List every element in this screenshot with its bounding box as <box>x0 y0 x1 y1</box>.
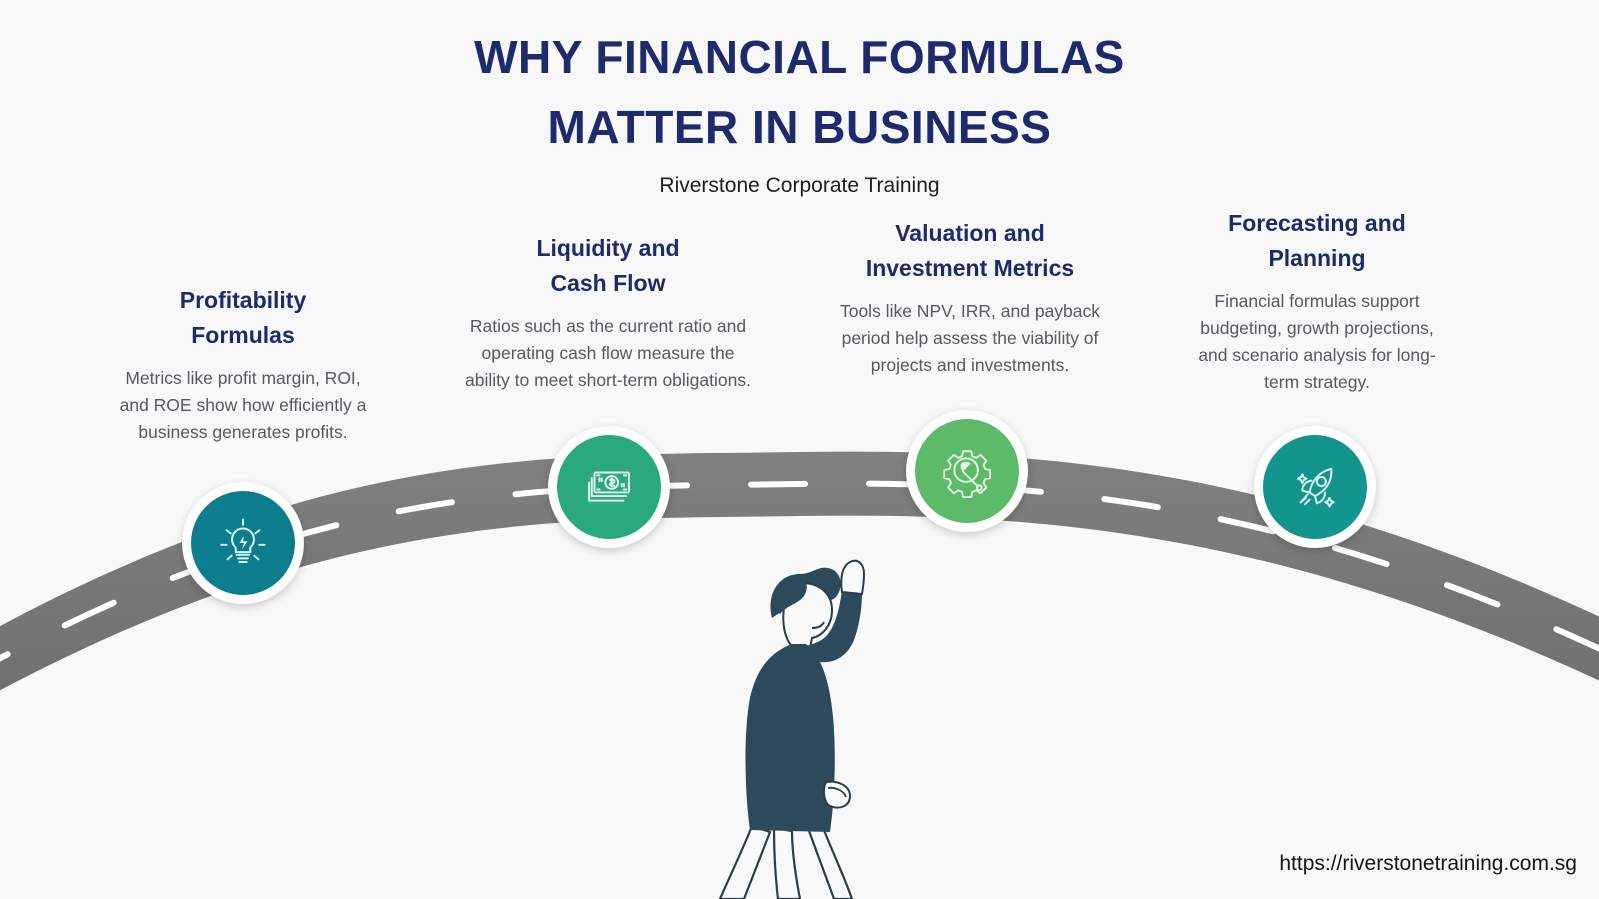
step-1-icon-badge[interactable] <box>182 482 304 604</box>
step-1-description: Metrics like profit margin, ROI, and ROE… <box>113 365 373 446</box>
step-2-title-line-2: Cash Flow <box>458 266 758 301</box>
infographic-canvas: WHY FINANCIAL FORMULAS MATTER IN BUSINES… <box>0 0 1599 899</box>
step-3-description: Tools like NPV, IRR, and payback period … <box>835 298 1105 379</box>
header: WHY FINANCIAL FORMULAS MATTER IN BUSINES… <box>0 22 1599 200</box>
step-3: Valuation and Investment Metrics Tools l… <box>835 216 1105 379</box>
step-4-icon-circle <box>1263 435 1367 539</box>
step-4: Forecasting and Planning Financial formu… <box>1192 206 1442 396</box>
step-1-title-line-2: Formulas <box>113 318 373 353</box>
step-2-title-line-1: Liquidity and <box>458 231 758 266</box>
step-2-icon-badge[interactable] <box>548 426 670 548</box>
banknotes-icon <box>580 458 638 516</box>
step-2: Liquidity and Cash Flow Ratios such as t… <box>458 231 758 394</box>
step-3-title-line-2: Investment Metrics <box>835 251 1105 286</box>
step-2-description: Ratios such as the current ratio and ope… <box>458 313 758 394</box>
step-1: Profitability Formulas Metrics like prof… <box>113 283 373 446</box>
page-title-line-2: MATTER IN BUSINESS <box>0 92 1599 162</box>
step-4-title-line-1: Forecasting and <box>1192 206 1442 241</box>
step-3-title: Valuation and Investment Metrics <box>835 216 1105 286</box>
step-2-icon-circle <box>557 435 661 539</box>
step-1-title-line-1: Profitability <box>113 283 373 318</box>
step-3-icon-circle <box>915 419 1019 523</box>
rocket-icon <box>1286 458 1344 516</box>
step-2-title: Liquidity and Cash Flow <box>458 231 758 301</box>
page-subtitle: Riverstone Corporate Training <box>0 172 1599 200</box>
lightbulb-icon <box>214 514 272 572</box>
step-4-title-line-2: Planning <box>1192 241 1442 276</box>
step-1-icon-circle <box>191 491 295 595</box>
step-3-icon-badge[interactable] <box>906 410 1028 532</box>
step-1-title: Profitability Formulas <box>113 283 373 353</box>
step-4-title: Forecasting and Planning <box>1192 206 1442 276</box>
page-title-line-1: WHY FINANCIAL FORMULAS <box>0 22 1599 92</box>
step-4-icon-badge[interactable] <box>1254 426 1376 548</box>
gear-wrench-icon <box>938 442 996 500</box>
step-3-title-line-1: Valuation and <box>835 216 1105 251</box>
step-4-description: Financial formulas support budgeting, gr… <box>1192 288 1442 396</box>
person-legs <box>720 826 852 899</box>
person-pointing-up-illustration <box>700 548 930 899</box>
website-url[interactable]: https://riverstonetraining.com.sg <box>1279 851 1577 877</box>
